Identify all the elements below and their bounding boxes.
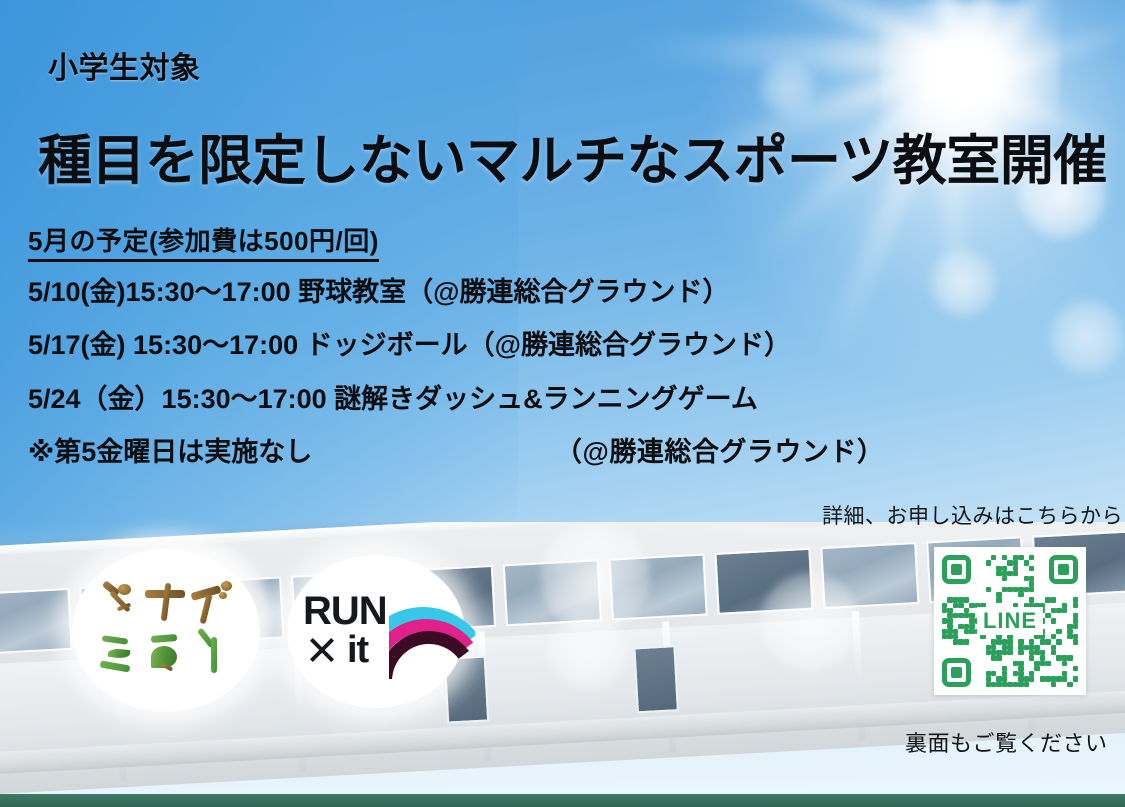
qr-module bbox=[1007, 682, 1012, 687]
bokeh-light bbox=[760, 60, 816, 116]
qr-module bbox=[1056, 655, 1061, 660]
qr-module bbox=[996, 655, 1001, 660]
qr-module bbox=[991, 555, 996, 560]
kana-mi-icon bbox=[98, 631, 143, 683]
qr-module bbox=[1056, 639, 1061, 644]
qr-module bbox=[1029, 566, 1034, 571]
qr-module bbox=[1062, 608, 1067, 613]
schedule-note: ※第5金曜日は実施なし bbox=[28, 430, 312, 469]
qr-module bbox=[1067, 682, 1072, 687]
qr-module bbox=[1007, 560, 1012, 565]
qr-module bbox=[1051, 597, 1056, 602]
qr-module bbox=[1073, 624, 1078, 629]
cross-icon bbox=[307, 635, 337, 665]
kana-ra-icon bbox=[143, 631, 188, 683]
qr-module bbox=[969, 629, 974, 634]
schedule-item: 5/24（金）15:30〜17:00 謎解きダッシュ&ランニングゲーム bbox=[28, 377, 758, 416]
qr-module bbox=[1073, 597, 1078, 602]
qr-module bbox=[958, 613, 963, 618]
qr-module bbox=[1029, 676, 1034, 681]
run-it-lockup: RUN it bbox=[303, 591, 453, 675]
it-wordmark: it bbox=[347, 629, 368, 672]
tsunagu-mirai-logo bbox=[72, 549, 260, 712]
qr-module bbox=[1013, 560, 1018, 565]
qr-module bbox=[1002, 576, 1007, 581]
qr-module bbox=[958, 639, 963, 644]
qr-module bbox=[1007, 650, 1012, 655]
schedule-item: 5/10(金)15:30〜17:00 野球教室（@勝連総合グラウンド） bbox=[28, 270, 729, 309]
qr-module bbox=[1045, 639, 1050, 644]
qr-module bbox=[1029, 581, 1034, 586]
schedule-heading: 5月の予定(参加費は500円/回) bbox=[28, 221, 379, 262]
qr-module bbox=[1029, 587, 1034, 592]
qr-module bbox=[1007, 639, 1012, 644]
qr-lead-text: 詳細、お申し込みはこちらから bbox=[822, 500, 1123, 530]
qr-module bbox=[1018, 555, 1023, 560]
qr-module bbox=[1029, 597, 1034, 602]
qr-module bbox=[1045, 597, 1050, 602]
qr-module bbox=[1073, 618, 1078, 623]
qr-module bbox=[1067, 655, 1072, 660]
qr-finder-top-left bbox=[942, 555, 971, 584]
qr-module bbox=[1013, 571, 1018, 576]
qr-module bbox=[1073, 676, 1078, 681]
qr-module bbox=[1062, 661, 1067, 666]
qr-module bbox=[986, 560, 991, 565]
qr-module bbox=[1029, 655, 1034, 660]
schedule-item: 5/17(金) 15:30〜17:00 ドッジボール（@勝連総合グラウンド） bbox=[28, 323, 791, 362]
kana-tsu-icon bbox=[98, 579, 143, 631]
qr-module bbox=[1018, 682, 1023, 687]
kana-i-icon bbox=[189, 631, 234, 683]
qr-module bbox=[1018, 639, 1023, 644]
qr-module bbox=[986, 587, 991, 592]
qr-module bbox=[1056, 629, 1061, 634]
qr-module bbox=[1045, 613, 1050, 618]
qr-module bbox=[964, 639, 969, 644]
kana-gu-icon bbox=[189, 579, 234, 631]
bokeh-light bbox=[930, 250, 996, 316]
qr-module bbox=[1002, 676, 1007, 681]
qr-module bbox=[1056, 608, 1061, 613]
qr-module bbox=[996, 597, 1001, 602]
qr-module bbox=[958, 603, 963, 608]
qr-module bbox=[1034, 666, 1039, 671]
tsunagu-kana-grid bbox=[98, 579, 234, 683]
qr-module bbox=[1024, 682, 1029, 687]
qr-module bbox=[958, 597, 963, 602]
qr-module bbox=[1029, 639, 1034, 644]
qr-module-grid: LINE bbox=[942, 555, 1078, 687]
photo-glare bbox=[548, 612, 628, 692]
bokeh-light bbox=[1050, 300, 1124, 374]
qr-module bbox=[969, 603, 974, 608]
line-qr-code[interactable]: LINE bbox=[934, 547, 1086, 695]
photo-glare bbox=[760, 572, 860, 672]
qr-module bbox=[1073, 666, 1078, 671]
back-side-note: 裏面もご覧ください bbox=[905, 726, 1108, 758]
page-title: 種目を限定しないマルチなスポーツ教室開催！ bbox=[38, 116, 1125, 195]
qr-module bbox=[969, 618, 974, 623]
qr-module bbox=[1018, 650, 1023, 655]
qr-module bbox=[1051, 682, 1056, 687]
qr-finder-bottom-left bbox=[942, 658, 971, 687]
qr-module bbox=[1062, 676, 1067, 681]
bottom-green-band bbox=[0, 794, 1125, 807]
qr-module bbox=[1045, 661, 1050, 666]
qr-module bbox=[986, 676, 991, 681]
qr-finder-top-right bbox=[1049, 555, 1078, 584]
window bbox=[0, 588, 73, 655]
qr-module bbox=[1018, 592, 1023, 597]
qr-module bbox=[1007, 571, 1012, 576]
qr-module bbox=[1007, 587, 1012, 592]
run-wordmark: RUN bbox=[303, 589, 387, 634]
rainbow-arc-icon bbox=[389, 593, 475, 679]
qr-module bbox=[1045, 676, 1050, 681]
qr-module bbox=[1024, 560, 1029, 565]
qr-module bbox=[964, 597, 969, 602]
qr-module bbox=[1073, 639, 1078, 644]
qr-module bbox=[1029, 555, 1034, 560]
qr-module bbox=[1073, 603, 1078, 608]
qr-module bbox=[1056, 676, 1061, 681]
run-it-logo: RUN it bbox=[287, 555, 465, 708]
venue-label: （@勝連総合グラウンド） bbox=[555, 430, 884, 469]
qr-module bbox=[1051, 618, 1056, 623]
kana-na-icon bbox=[143, 579, 188, 631]
target-audience-label: 小学生対象 bbox=[48, 43, 201, 87]
flyer-poster: 小学生対象 種目を限定しないマルチなスポーツ教室開催！ 5月の予定(参加費は50… bbox=[0, 0, 1125, 807]
building-door bbox=[633, 645, 679, 713]
qr-module bbox=[947, 618, 952, 623]
qr-module bbox=[1067, 634, 1072, 639]
qr-module bbox=[1018, 676, 1023, 681]
line-brand-label: LINE bbox=[977, 607, 1043, 635]
qr-module bbox=[1040, 655, 1045, 660]
qr-module bbox=[958, 624, 963, 629]
